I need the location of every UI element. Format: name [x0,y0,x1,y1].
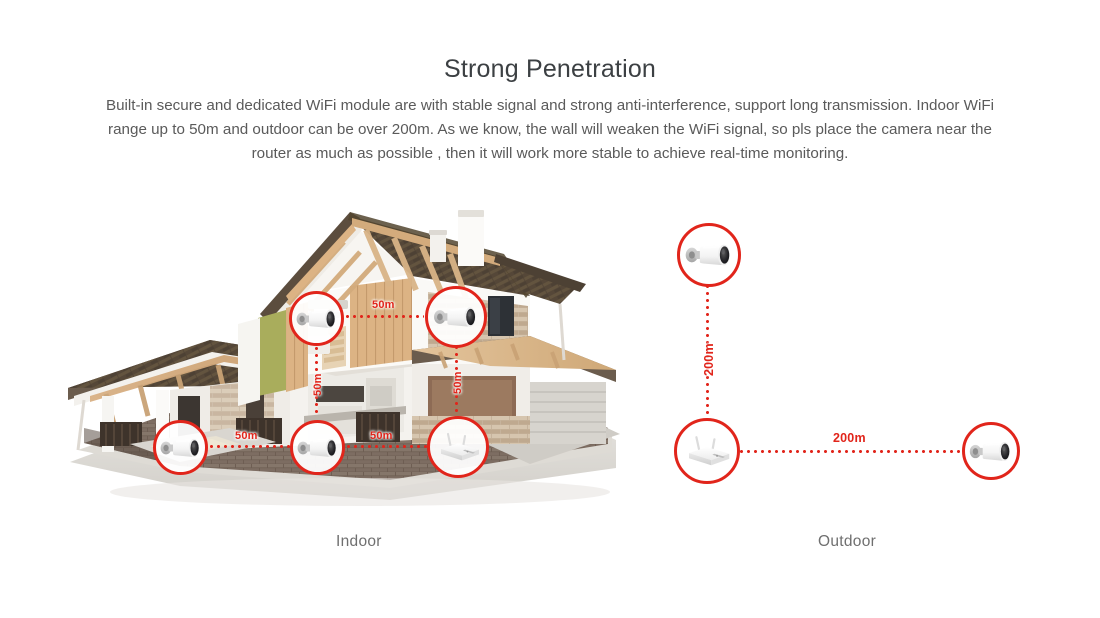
bullet-camera-icon [685,240,733,270]
device-outdoor-camera-right[interactable] [962,422,1020,480]
link-attic-horizontal [344,315,424,318]
bullet-camera-icon [296,306,338,332]
bullet-camera-icon [433,303,479,331]
device-patio-camera-mid[interactable] [290,420,345,475]
diagram-scene: 50m 50m 50m 50m 50m [0,196,1100,596]
distance-label-patio-right: 50m [370,430,393,442]
device-attic-camera-right[interactable] [425,286,487,348]
wifi-router-icon [681,433,733,469]
distance-label-outdoor-horizontal: 200m [833,431,866,445]
link-patio-left [208,445,290,448]
caption-indoor: Indoor [336,533,382,551]
page-description: Built-in secure and dedicated WiFi modul… [90,94,1010,166]
page-root: Strong Penetration Built-in secure and d… [0,0,1100,618]
device-attic-camera-left[interactable] [289,291,344,346]
device-patio-camera-left[interactable] [153,420,208,475]
device-outdoor-camera-top[interactable] [677,223,741,287]
bullet-camera-icon [160,435,202,461]
link-outdoor-horizontal [738,450,965,453]
distance-label-outdoor-vertical: 200m [702,343,716,376]
distance-label-attic-horizontal: 50m [372,299,395,311]
bullet-camera-icon [969,438,1013,465]
bullet-camera-icon [297,435,339,461]
link-patio-right [345,445,427,448]
distance-label-patio-left: 50m [235,430,258,442]
page-title: Strong Penetration [0,0,1100,84]
distance-label-left-vertical: 50m [312,373,324,396]
device-outdoor-router[interactable] [674,418,740,484]
distance-label-right-vertical: 50m [452,371,464,394]
house-cutaway-illustration [60,200,625,530]
caption-outdoor: Outdoor [818,533,876,551]
device-indoor-router[interactable] [427,416,489,478]
header: Strong Penetration Built-in secure and d… [0,0,1100,166]
wifi-router-icon [434,430,482,464]
